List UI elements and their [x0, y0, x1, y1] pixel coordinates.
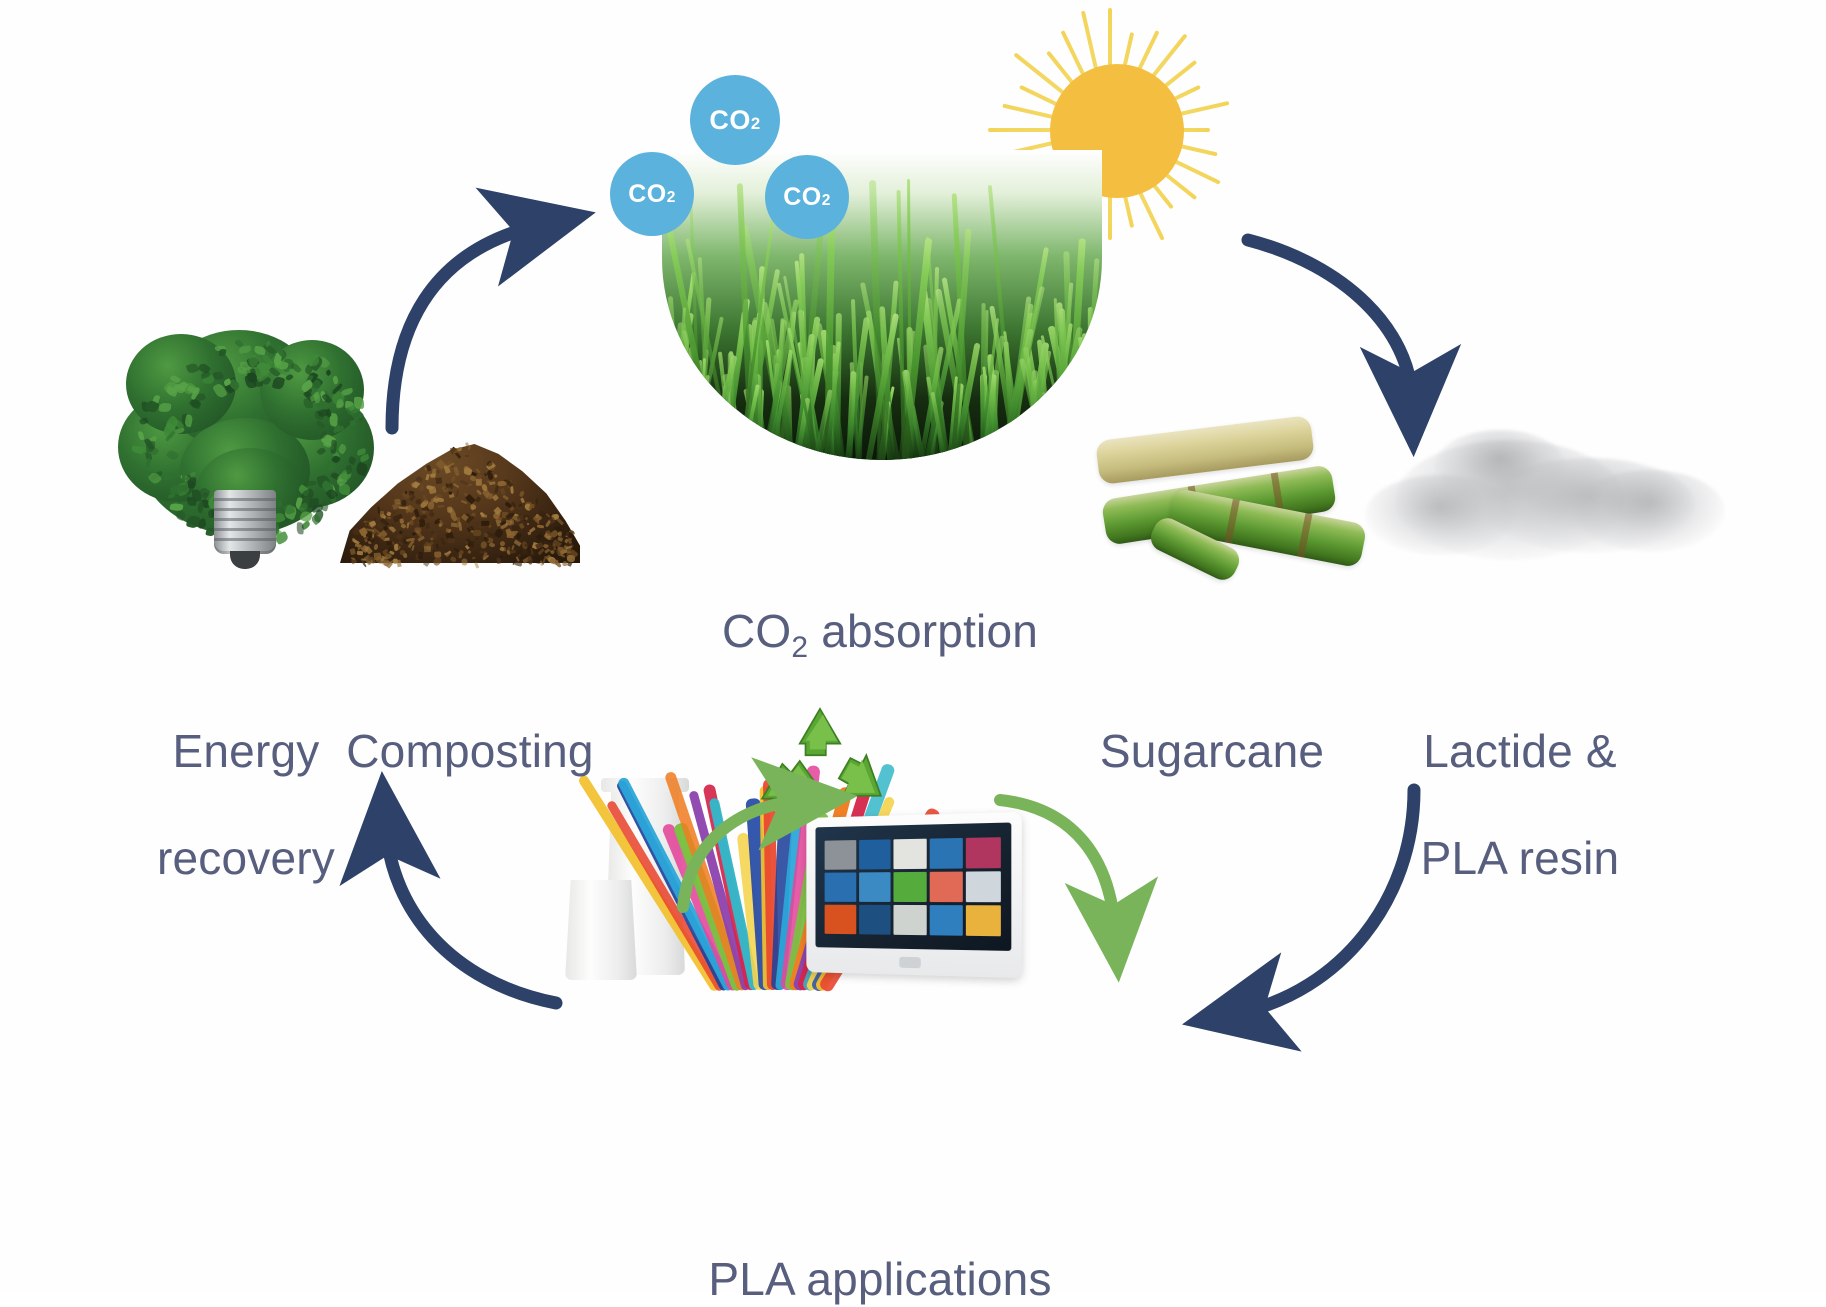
compost-fleck [462, 558, 468, 565]
compost-fleck [394, 498, 401, 504]
compost-fleck [499, 555, 503, 558]
co2-bubble-top: CO2 [690, 75, 780, 165]
compost-fleck [437, 497, 445, 502]
compost-fleck [473, 530, 481, 536]
label-energy-line2: recovery [157, 832, 335, 884]
energy-recovery-lightbulb-tree-image [118, 330, 378, 580]
compost-fleck [419, 484, 423, 490]
arrow-composting-to-co2 [392, 225, 540, 428]
tree-leaf [276, 500, 282, 507]
pla-tablet-device [806, 812, 1022, 978]
co2-bubble-right: CO2 [765, 155, 849, 239]
pla-applications-image [575, 700, 1075, 1000]
label-lactide-line1: Lactide & [1423, 725, 1617, 777]
co2-bubble-left: CO2 [610, 152, 694, 236]
co2-bubble-text: CO [783, 183, 822, 212]
label-co2-text: CO [722, 605, 791, 657]
compost-fleck [449, 492, 452, 495]
tablet-screen [815, 822, 1011, 950]
co2-bubble-subscript: 2 [751, 114, 761, 134]
co2-bubble-subscript: 2 [667, 189, 676, 207]
compost-fleck [436, 477, 442, 484]
lactide-pla-resin-powder-image [1365, 430, 1725, 590]
co2-bubble-text: CO [628, 180, 667, 209]
compost-fleck [368, 556, 372, 561]
arrow-co2-to-sugarcane [1248, 240, 1412, 400]
bulb-screw-base [214, 490, 276, 554]
bulb-contact-tip [230, 551, 260, 569]
compost-fleck [386, 541, 392, 545]
tree-leaf [188, 477, 196, 489]
tablet-home-button[interactable] [899, 957, 921, 969]
tree-leaf [297, 522, 304, 535]
tree-leaf [354, 397, 364, 409]
compost-fleck [374, 532, 378, 535]
label-composting-text: Composting [346, 725, 593, 777]
pla-cup-short [565, 880, 637, 980]
compost-fleck [417, 551, 423, 558]
compost-fleck [411, 555, 414, 561]
sugarcane-stalks-image [1095, 420, 1375, 600]
compost-fleck [380, 511, 384, 517]
tree-leaf [170, 485, 184, 494]
label-sugarcane: Sugarcane [1072, 672, 1352, 779]
arrow-pla-to-energy [386, 828, 556, 1003]
label-co2-rest: absorption [808, 605, 1038, 657]
recycling-symbol-icon [745, 706, 895, 816]
label-lactide-line2: PLA resin [1421, 832, 1620, 884]
tree-leaf [304, 481, 316, 486]
co2-bubble-subscript: 2 [822, 192, 831, 210]
diagram-canvas: CO2 CO2 CO2 [0, 0, 1826, 1294]
label-composting: Composting [322, 672, 618, 779]
compost-fleck [500, 488, 505, 494]
label-sugarcane-text: Sugarcane [1100, 725, 1324, 777]
label-pla-text: PLA applications [708, 1253, 1051, 1305]
tree-leaf [163, 473, 174, 479]
composting-pile-image [340, 418, 580, 563]
label-lactide-pla-resin: Lactide & PLA resin [1370, 672, 1670, 885]
co2-bubble-text: CO [709, 105, 751, 136]
compost-fleck [418, 519, 425, 527]
powder-heap [1575, 470, 1725, 552]
compost-fleck [433, 552, 441, 558]
powder-heap [1435, 430, 1565, 500]
label-co2-subscript: 2 [791, 632, 808, 665]
label-co2-absorption: CO2 absorption [660, 552, 1100, 666]
compost-fleck [446, 507, 451, 513]
label-pla-applications: PLA applications [620, 1200, 1140, 1307]
compost-fleck [465, 455, 469, 457]
sugarcane-field-image [662, 150, 1102, 460]
label-energy-line1: Energy [173, 725, 320, 777]
compost-fleck [566, 532, 569, 536]
compost-fleck [481, 514, 487, 517]
tree-leaf [300, 511, 313, 524]
compost-fleck [468, 541, 474, 547]
compost-fleck [566, 554, 575, 562]
compost-fleck [356, 551, 362, 555]
compost-fleck [481, 521, 489, 526]
